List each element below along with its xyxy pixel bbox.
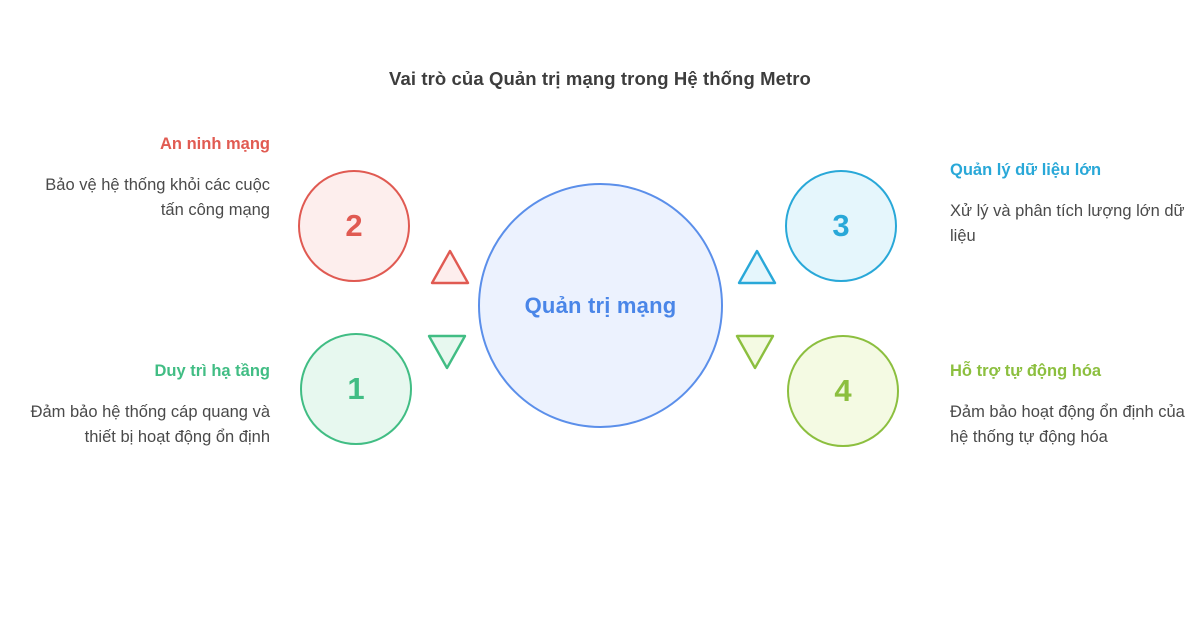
diagram-canvas: Vai trò của Quản trị mạng trong Hệ thống… [0,0,1200,628]
page-title: Vai trò của Quản trị mạng trong Hệ thống… [0,68,1200,90]
text-block-bigdata: Quản lý dữ liệu lớn Xử lý và phân tích l… [950,160,1200,250]
node-circle-bigdata[interactable]: 3 [785,170,897,282]
description-bigdata: Xử lý và phân tích lượng lớn dữ liệu [950,199,1200,250]
description-security: Bảo vệ hệ thống khỏi các cuộc tấn công m… [20,173,270,224]
description-automation: Đảm bảo hoạt động ổn định của hệ thống t… [950,400,1200,451]
node-circle-security[interactable]: 2 [298,170,410,282]
node-circle-automation[interactable]: 4 [787,335,899,447]
heading-infrastructure: Duy trì hạ tầng [20,361,270,382]
triangle-up-icon-bigdata [735,245,779,289]
heading-security: An ninh mạng [20,134,270,155]
heading-automation: Hỗ trợ tự động hóa [950,361,1200,382]
text-block-security: An ninh mạng Bảo vệ hệ thống khỏi các cu… [20,134,270,224]
heading-bigdata: Quản lý dữ liệu lớn [950,160,1200,181]
triangle-up-icon-security [428,245,472,289]
node-circle-infrastructure[interactable]: 1 [300,333,412,445]
text-block-infrastructure: Duy trì hạ tầng Đảm bảo hệ thống cáp qua… [20,361,270,451]
text-block-automation: Hỗ trợ tự động hóa Đảm bảo hoạt động ổn … [950,361,1200,451]
center-circle-network-management[interactable]: Quản trị mạng [478,183,723,428]
triangle-down-icon-infrastructure [425,330,469,374]
triangle-down-icon-automation [733,330,777,374]
description-infrastructure: Đảm bảo hệ thống cáp quang và thiết bị h… [20,400,270,451]
